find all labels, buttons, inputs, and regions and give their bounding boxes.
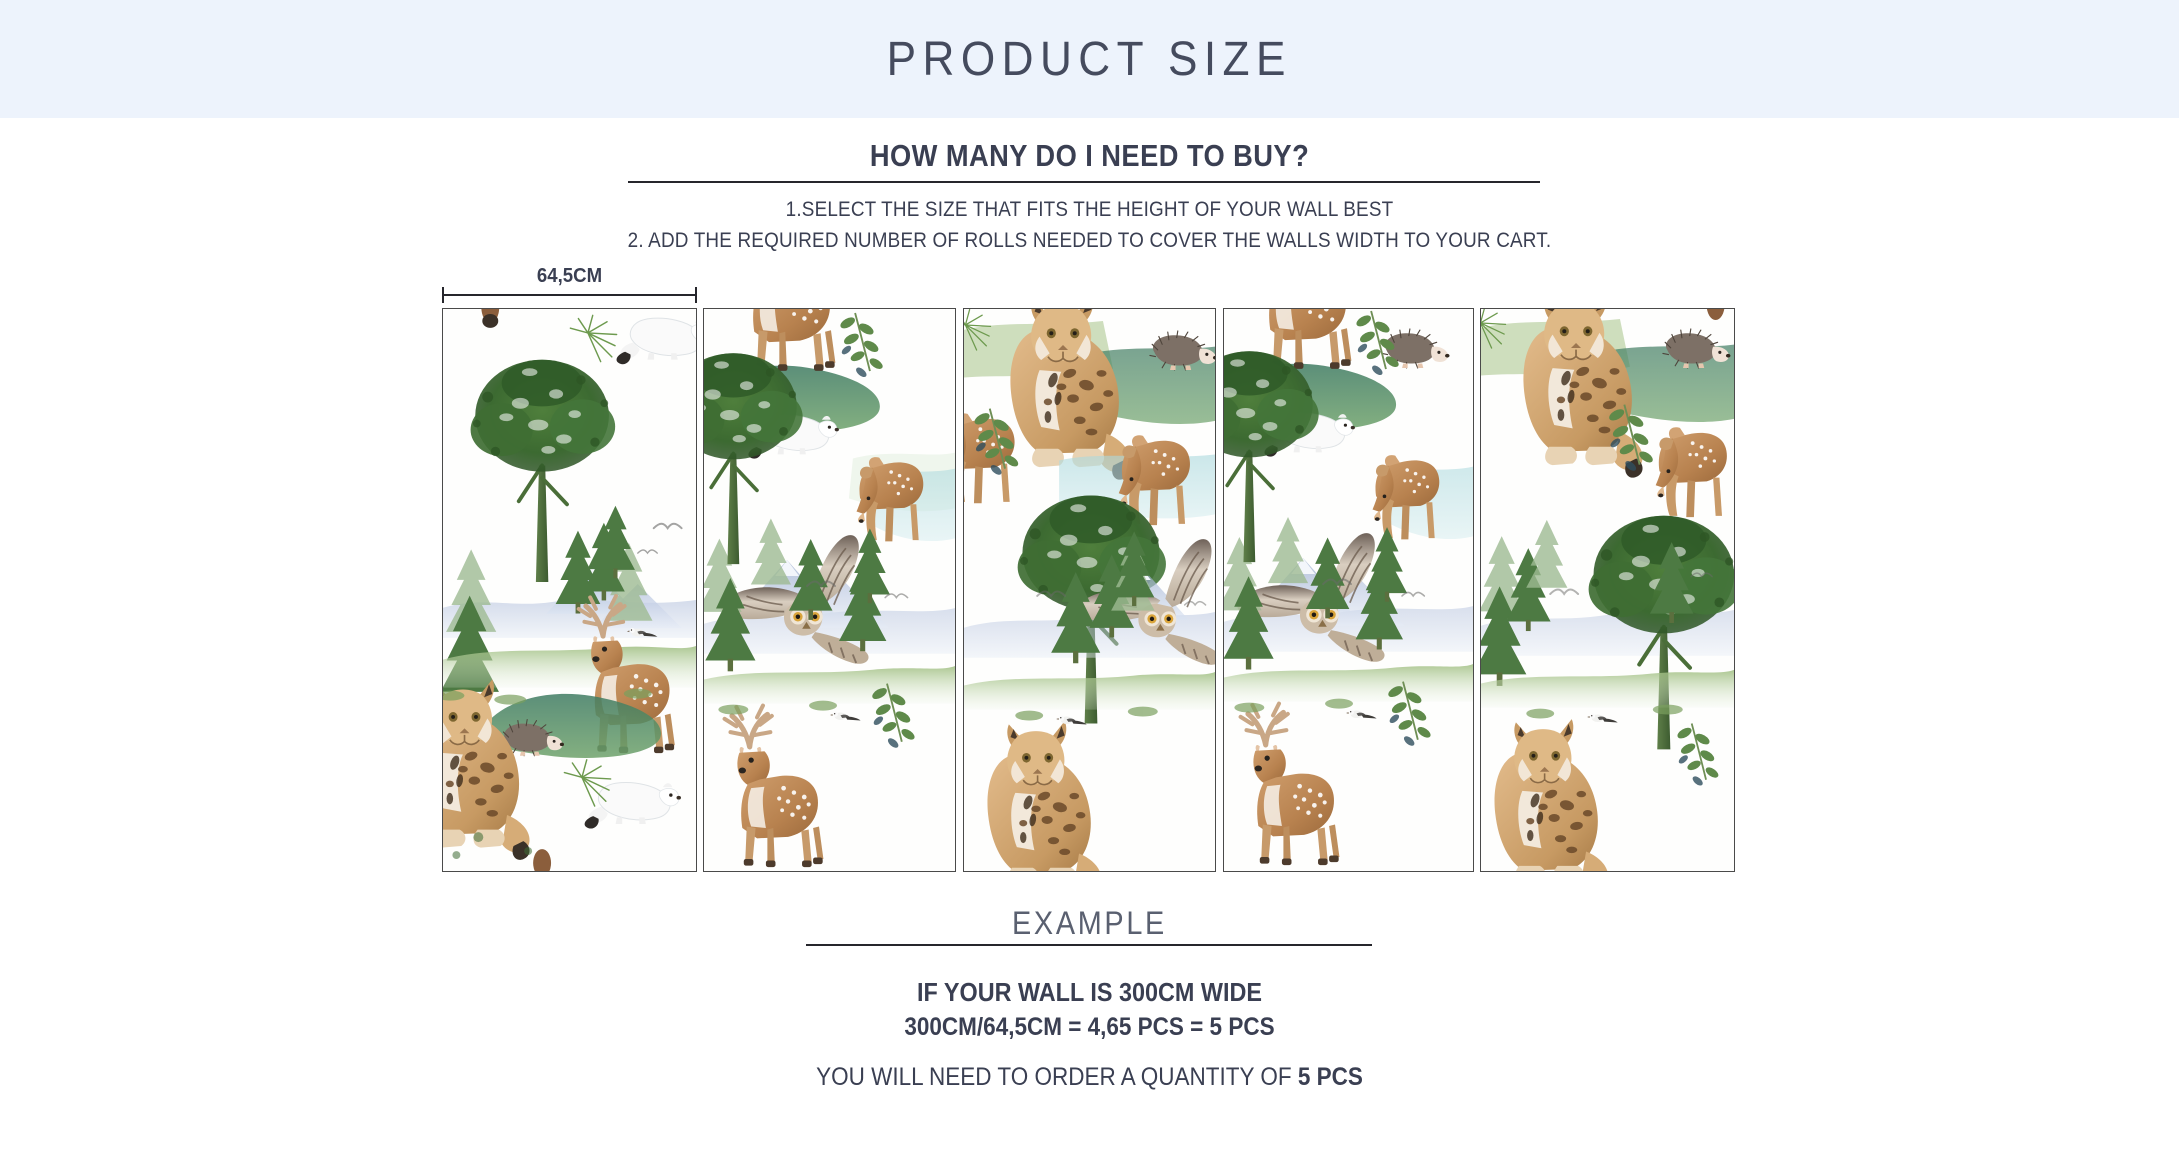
example-line-1: IF YOUR WALL IS 300CM WIDE [109, 977, 2070, 1008]
wallpaper-panel-2[interactable] [703, 308, 956, 872]
panel-2-artwork [704, 309, 955, 871]
instruction-line-1: 1.SELECT THE SIZE THAT FITS THE HEIGHT O… [109, 198, 2070, 222]
panel-3-artwork [964, 309, 1215, 871]
example-line-3-prefix: YOU WILL NEED TO ORDER A QUANTITY OF [816, 1063, 1298, 1091]
dimension-line [442, 294, 697, 296]
example-quantity-value: 5 PCS [1298, 1063, 1363, 1091]
example-line-2: 300CM/64,5CM = 4,65 PCS = 5 PCS [109, 1013, 2070, 1042]
panel-4-artwork [1224, 309, 1473, 871]
example-line-3: YOU WILL NEED TO ORDER A QUANTITY OF 5 P… [109, 1063, 2070, 1092]
wallpaper-panel-1[interactable] [442, 308, 697, 872]
dimension-tick-left [442, 287, 444, 303]
example-divider [806, 944, 1372, 946]
panel-1-artwork [443, 309, 696, 871]
example-title: EXAMPLE [109, 905, 2070, 942]
dimension-tick-right [695, 287, 697, 303]
wallpaper-panel-4[interactable] [1223, 308, 1474, 872]
section-divider [628, 181, 1540, 183]
section-title: HOW MANY DO I NEED TO BUY? [131, 138, 2049, 174]
instruction-line-2: 2. ADD THE REQUIRED NUMBER OF ROLLS NEED… [109, 229, 2070, 253]
wallpaper-panel-5[interactable] [1480, 308, 1735, 872]
dimension-width-label: 64,5CM [451, 265, 688, 288]
page-title: PRODUCT SIZE [887, 32, 1292, 87]
panel-5-artwork [1481, 309, 1734, 871]
header-band: PRODUCT SIZE [0, 0, 2179, 118]
wallpaper-panel-3[interactable] [963, 308, 1216, 872]
